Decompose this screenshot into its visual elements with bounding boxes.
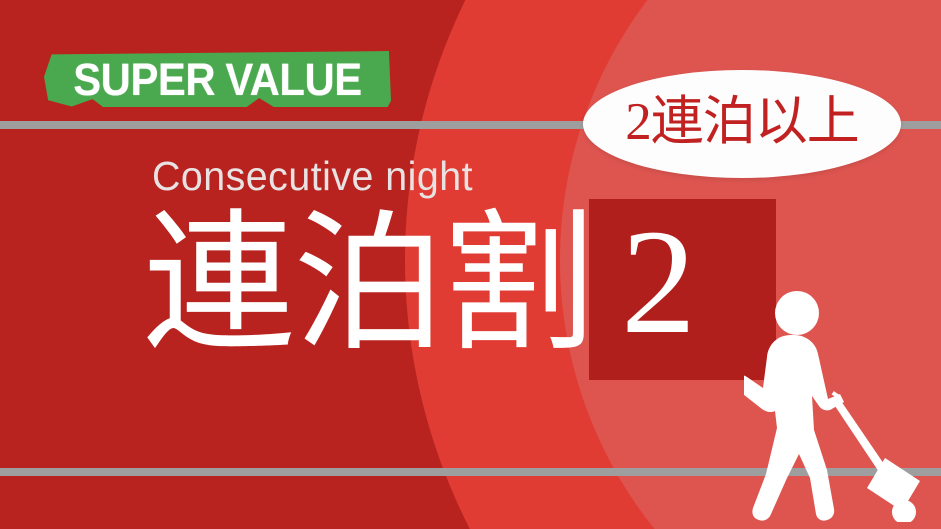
super-value-word-value: VALUE [225, 57, 361, 102]
page-title: 連泊割 2 [143, 208, 696, 361]
headline-nights-number: 2 [621, 207, 696, 357]
headline-japanese-text: 連泊割 [143, 208, 593, 360]
traveler-with-suitcase-icon [744, 288, 930, 522]
super-value-promo-tag: SUPER VALUE [44, 51, 391, 107]
consecutive-night-promo-banner: SUPER VALUE 2連泊以上 Consecutive night 連泊割 … [0, 0, 941, 529]
super-value-tag-label: SUPER VALUE [56, 51, 379, 107]
english-subtitle: Consecutive night [152, 156, 473, 197]
minimum-nights-badge: 2連泊以上 [583, 70, 901, 178]
super-value-word-super: SUPER [73, 57, 215, 102]
minimum-nights-badge-label: 2連泊以上 [625, 96, 859, 149]
